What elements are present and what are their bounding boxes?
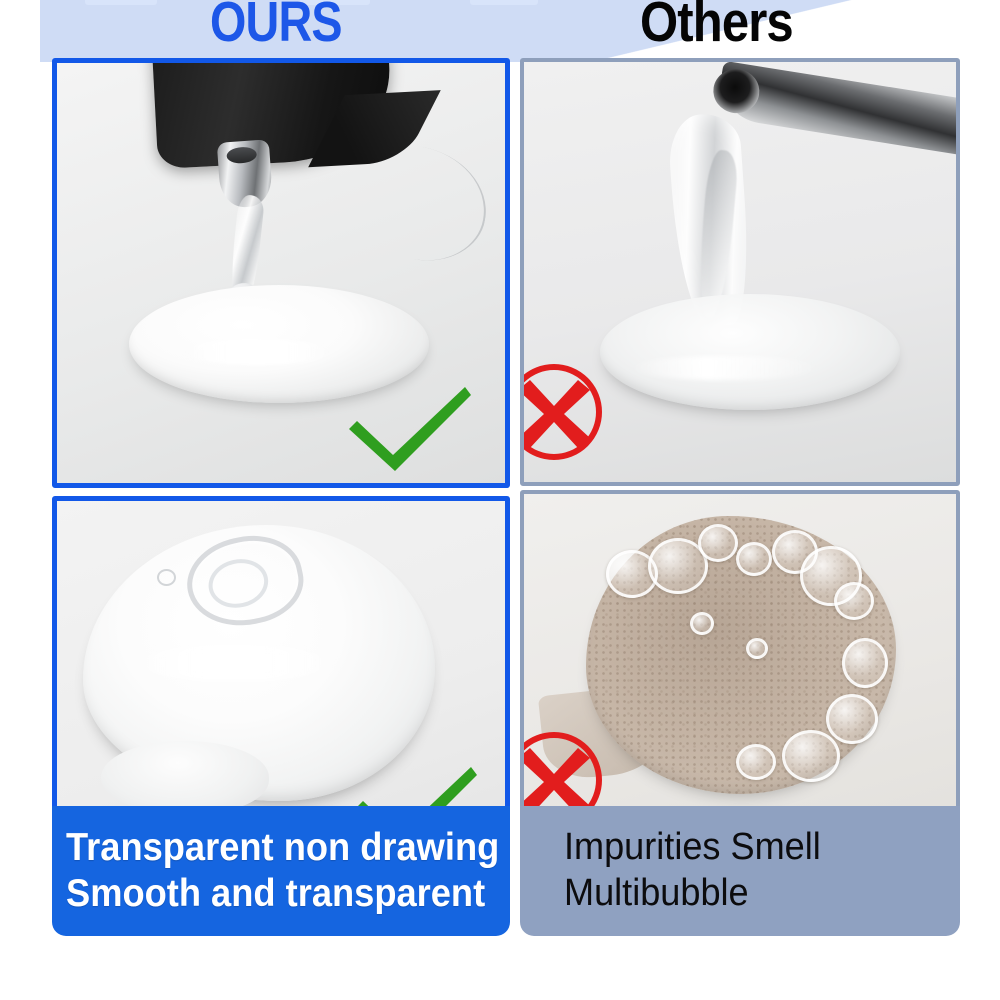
bubble: [826, 694, 878, 744]
others-photo-stringing: [520, 58, 960, 486]
ours-caption-line-2: Smooth and transparent: [66, 871, 479, 917]
clear-glue-blob: [83, 525, 435, 801]
impure-glue-blob: [586, 516, 896, 794]
ours-column-title: OURS: [210, 0, 342, 51]
ours-caption-panel: Transparent non drawing Smooth and trans…: [52, 806, 510, 936]
bubble: [842, 638, 888, 688]
bubble: [746, 638, 768, 659]
ours-caption-line-1: Transparent non drawing: [66, 825, 479, 871]
bubble: [834, 582, 874, 620]
red-x-circle-icon: [520, 360, 606, 464]
bubble: [736, 744, 776, 780]
cropped-row-remnant-1: [85, 0, 157, 5]
ours-photo-dispensing: [52, 58, 510, 488]
ours-column: [52, 58, 510, 866]
bubble: [736, 542, 772, 576]
bubble: [782, 730, 840, 782]
bubble: [698, 524, 738, 562]
tiny-bubble: [157, 569, 176, 586]
comparison-infographic: OURS Others: [0, 0, 1000, 1000]
others-column: [520, 58, 960, 858]
others-caption-panel: Impurities Smell Multibubble: [520, 806, 960, 936]
bubble: [690, 612, 714, 635]
others-caption-line-2: Multibubble: [564, 871, 940, 917]
green-check-icon: [343, 385, 475, 473]
glue-pool: [600, 294, 900, 410]
black-glue-bottle: [148, 58, 394, 169]
others-column-title: Others: [640, 0, 793, 51]
others-photo-bubbly-blob: [520, 490, 960, 858]
metal-nozzle: [715, 61, 960, 155]
others-caption-line-1: Impurities Smell: [564, 825, 940, 871]
cropped-row-remnant-3: [470, 0, 538, 5]
glue-swirl: [179, 526, 311, 636]
